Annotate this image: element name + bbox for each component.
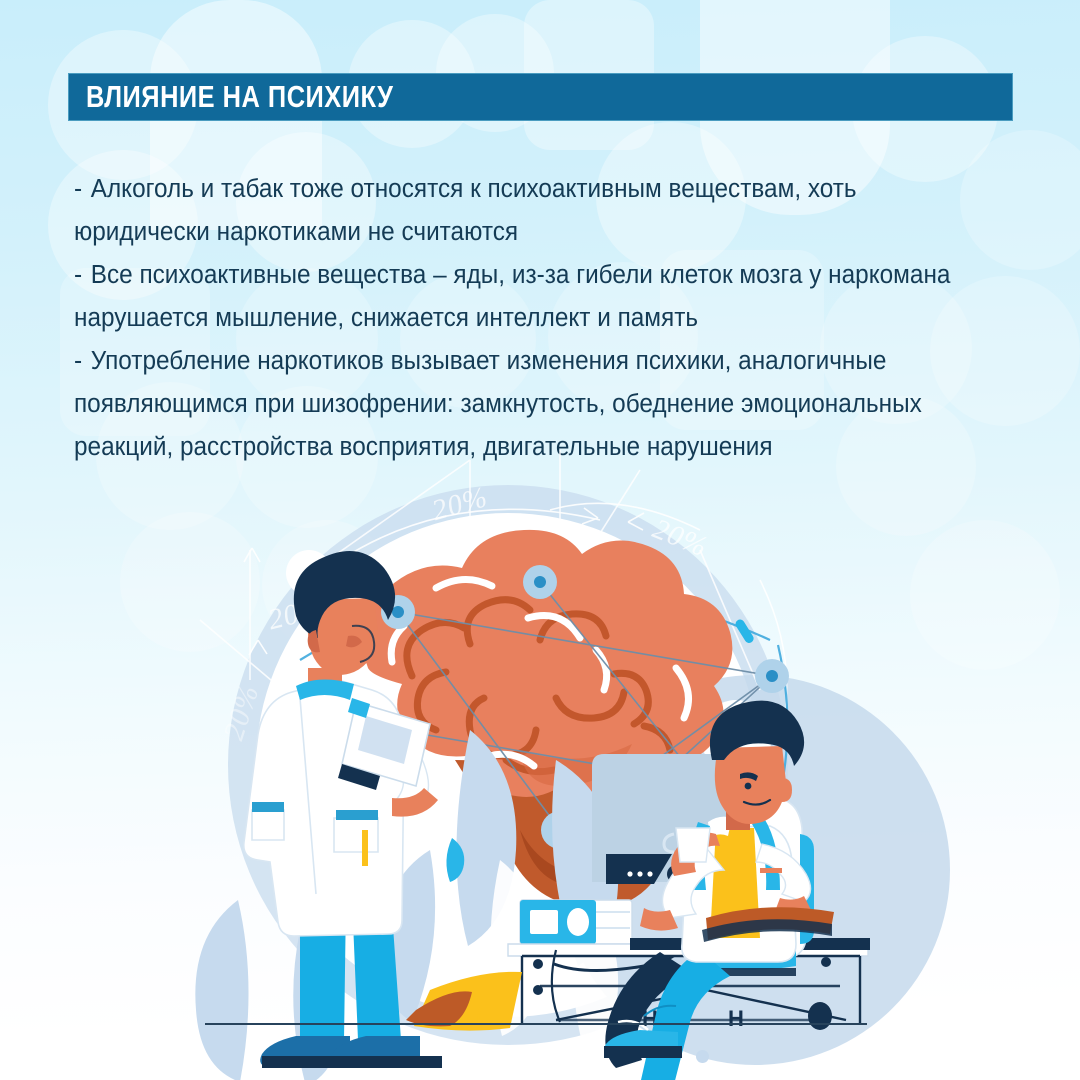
bullet-label: Все психоактивные вещества – яды, из-за … [74,261,950,332]
title-banner: ВЛИЯНИЕ НА ПСИХИКУ [68,73,1013,121]
bullet-label: Алкоголь и табак тоже относятся к психоа… [74,175,857,246]
floor-dot [696,1050,709,1063]
page-title: ВЛИЯНИЕ НА ПСИХИКУ [86,79,393,115]
illustration: 20% 20% 20% 20% [0,430,1080,1080]
body-text: -Алкоголь и табак тоже относятся к психо… [74,168,967,469]
bullet-item: -Алкоголь и табак тоже относятся к психо… [74,168,967,254]
poster: ВЛИЯНИЕ НА ПСИХИКУ -Алкоголь и табак тож… [0,0,1080,1080]
bullet-dash: - [74,347,82,375]
floor-line [205,1023,867,1025]
floor-papers [0,430,1080,1080]
bullet-dash: - [74,261,82,289]
bullet-dash: - [74,175,82,203]
bullet-item: -Все психоактивные вещества – яды, из-за… [74,254,967,340]
